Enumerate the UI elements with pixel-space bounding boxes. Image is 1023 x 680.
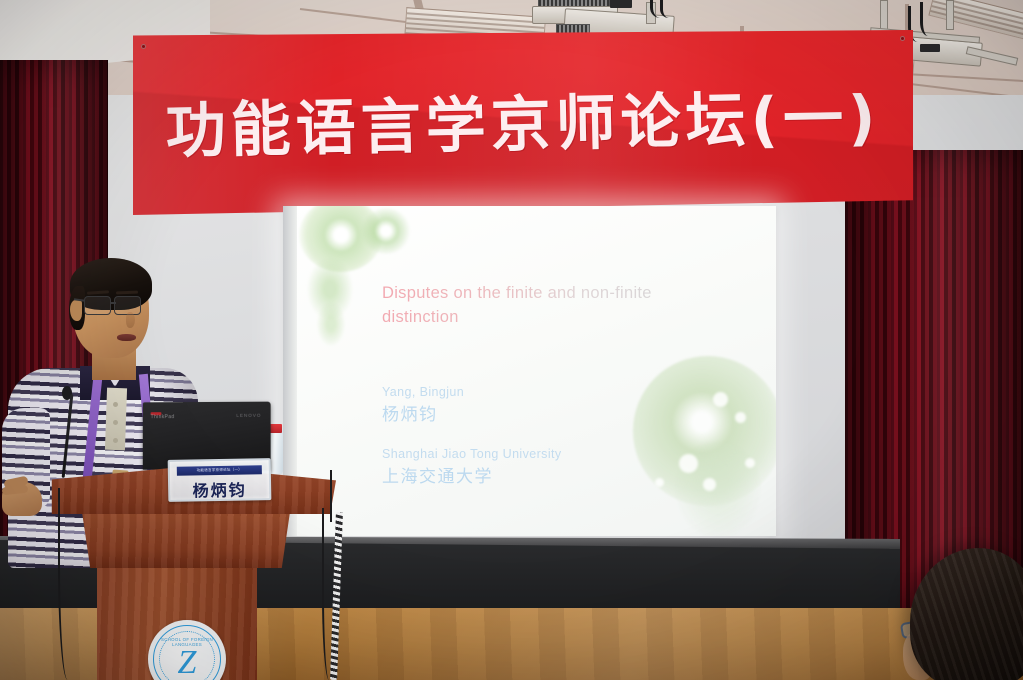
bokeh-circle: [713, 392, 728, 407]
laptop-brand-label: ThinkPad: [151, 414, 175, 420]
shirt-button: [113, 438, 118, 443]
glasses-bridge: [110, 302, 116, 304]
bokeh-circle: [735, 412, 746, 423]
nameplate-name-text: 杨炳钧: [170, 476, 269, 502]
slide-author-en: Yang, Bingjun: [382, 385, 464, 399]
bottle-cap: [269, 424, 282, 433]
slide-affiliation-en: Shanghai Jiao Tong University: [382, 447, 562, 461]
podium-side-cable: [330, 470, 352, 522]
projection-screen: Disputes on the finite and non-finite di…: [283, 206, 776, 536]
bokeh-circle: [679, 454, 698, 473]
glasses-lens-left: [84, 296, 111, 315]
photo-scene: 功能语言学京师论坛(一) Disputes on the finite and …: [0, 0, 1023, 680]
slide-affiliation-cn: 上海交通大学: [382, 462, 493, 487]
banner-title: 功能语言学京师论坛(一): [132, 69, 914, 171]
banner-grommet: [900, 36, 905, 41]
speaker-nameplate: 功能语言学京师论坛（一） 杨炳钧: [168, 458, 272, 502]
speaker-ear: [70, 300, 82, 321]
slide-author-cn: 杨炳钧: [382, 400, 438, 425]
slide-title: Disputes on the finite and non-finite di…: [382, 282, 722, 330]
shirt-button: [113, 420, 118, 425]
event-banner: 功能语言学京师论坛(一): [133, 30, 913, 215]
podium-base: [72, 506, 300, 568]
flower-decoration-top-left-2: [361, 208, 411, 254]
shirt-button: [113, 402, 118, 407]
laptop-brand-label-right: LENOVO: [236, 413, 261, 418]
floor-cable: [58, 488, 74, 680]
bokeh-circle: [745, 458, 755, 468]
speaker-nose: [126, 312, 135, 328]
bokeh-circle: [703, 478, 716, 491]
bokeh-circle: [655, 478, 664, 487]
nameplate-header-text: 功能语言学京师论坛（一）: [177, 465, 262, 475]
flower-decoration-left-leaf-2: [317, 302, 345, 346]
speaker-mouth: [117, 334, 136, 341]
banner-grommet: [141, 44, 146, 49]
emblem-monogram: Z: [148, 646, 226, 680]
